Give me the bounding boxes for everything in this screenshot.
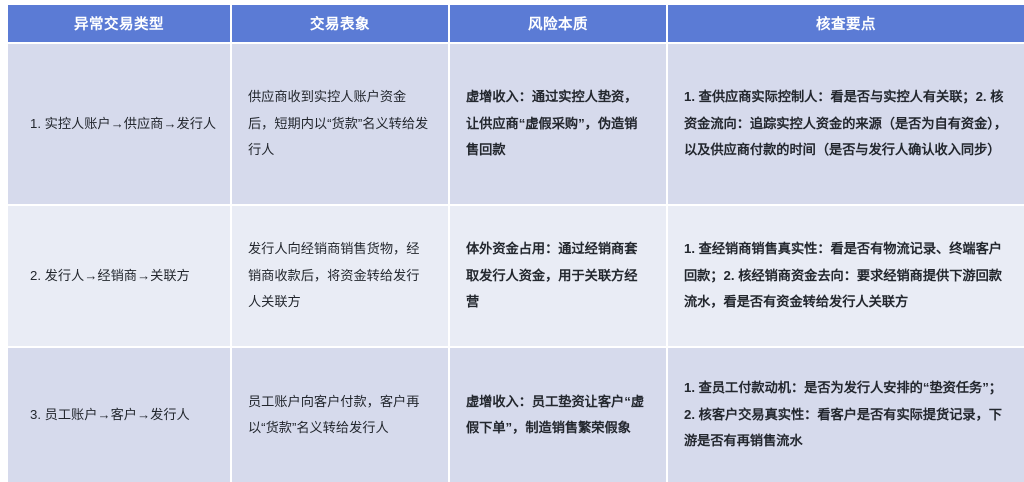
cell-transaction-type: 1. 实控人账户→供应商→发行人 xyxy=(8,42,232,204)
cell-risk-essence: 虚增收入：员工垫资让客户“虚假下单”，制造销售繁荣假象 xyxy=(450,346,668,482)
column-header-transaction-type: 异常交易类型 xyxy=(8,5,232,42)
cell-transaction-type: 3. 员工账户→客户→发行人 xyxy=(8,346,232,482)
column-header-transaction-surface: 交易表象 xyxy=(232,5,450,42)
cell-risk-essence: 体外资金占用：通过经销商套取发行人资金，用于关联方经营 xyxy=(450,204,668,346)
table-header: 异常交易类型 交易表象 风险本质 核查要点 xyxy=(8,5,1024,42)
table-header-row: 异常交易类型 交易表象 风险本质 核查要点 xyxy=(8,5,1024,42)
risk-table-container: 异常交易类型 交易表象 风险本质 核查要点 1. 实控人账户→供应商→发行人 供… xyxy=(8,5,1024,398)
cell-risk-essence: 虚增收入：通过实控人垫资，让供应商“虚假采购”，伪造销售回款 xyxy=(450,42,668,204)
table-body: 1. 实控人账户→供应商→发行人 供应商收到实控人账户资金后，短期内以“货款”名… xyxy=(8,42,1024,482)
cell-transaction-surface: 发行人向经销商销售货物，经销商收款后，将资金转给发行人关联方 xyxy=(232,204,450,346)
table-row: 1. 实控人账户→供应商→发行人 供应商收到实控人账户资金后，短期内以“货款”名… xyxy=(8,42,1024,204)
cell-verification-points: 1. 查经销商销售真实性：看是否有物流记录、终端客户回款；2. 核经销商资金去向… xyxy=(668,204,1024,346)
cell-transaction-type: 2. 发行人→经销商→关联方 xyxy=(8,204,232,346)
column-header-risk-essence: 风险本质 xyxy=(450,5,668,42)
cell-transaction-surface: 供应商收到实控人账户资金后，短期内以“货款”名义转给发行人 xyxy=(232,42,450,204)
table-row: 2. 发行人→经销商→关联方 发行人向经销商销售货物，经销商收款后，将资金转给发… xyxy=(8,204,1024,346)
table-row: 3. 员工账户→客户→发行人 员工账户向客户付款，客户再以“货款”名义转给发行人… xyxy=(8,346,1024,482)
column-header-verification-points: 核查要点 xyxy=(668,5,1024,42)
cell-transaction-surface: 员工账户向客户付款，客户再以“货款”名义转给发行人 xyxy=(232,346,450,482)
cell-verification-points: 1. 查供应商实际控制人：看是否与实控人有关联；2. 核资金流向：追踪实控人资金… xyxy=(668,42,1024,204)
cell-verification-points: 1. 查员工付款动机：是否为发行人安排的“垫资任务”；2. 核客户交易真实性：看… xyxy=(668,346,1024,482)
abnormal-transaction-table: 异常交易类型 交易表象 风险本质 核查要点 1. 实控人账户→供应商→发行人 供… xyxy=(8,5,1024,482)
